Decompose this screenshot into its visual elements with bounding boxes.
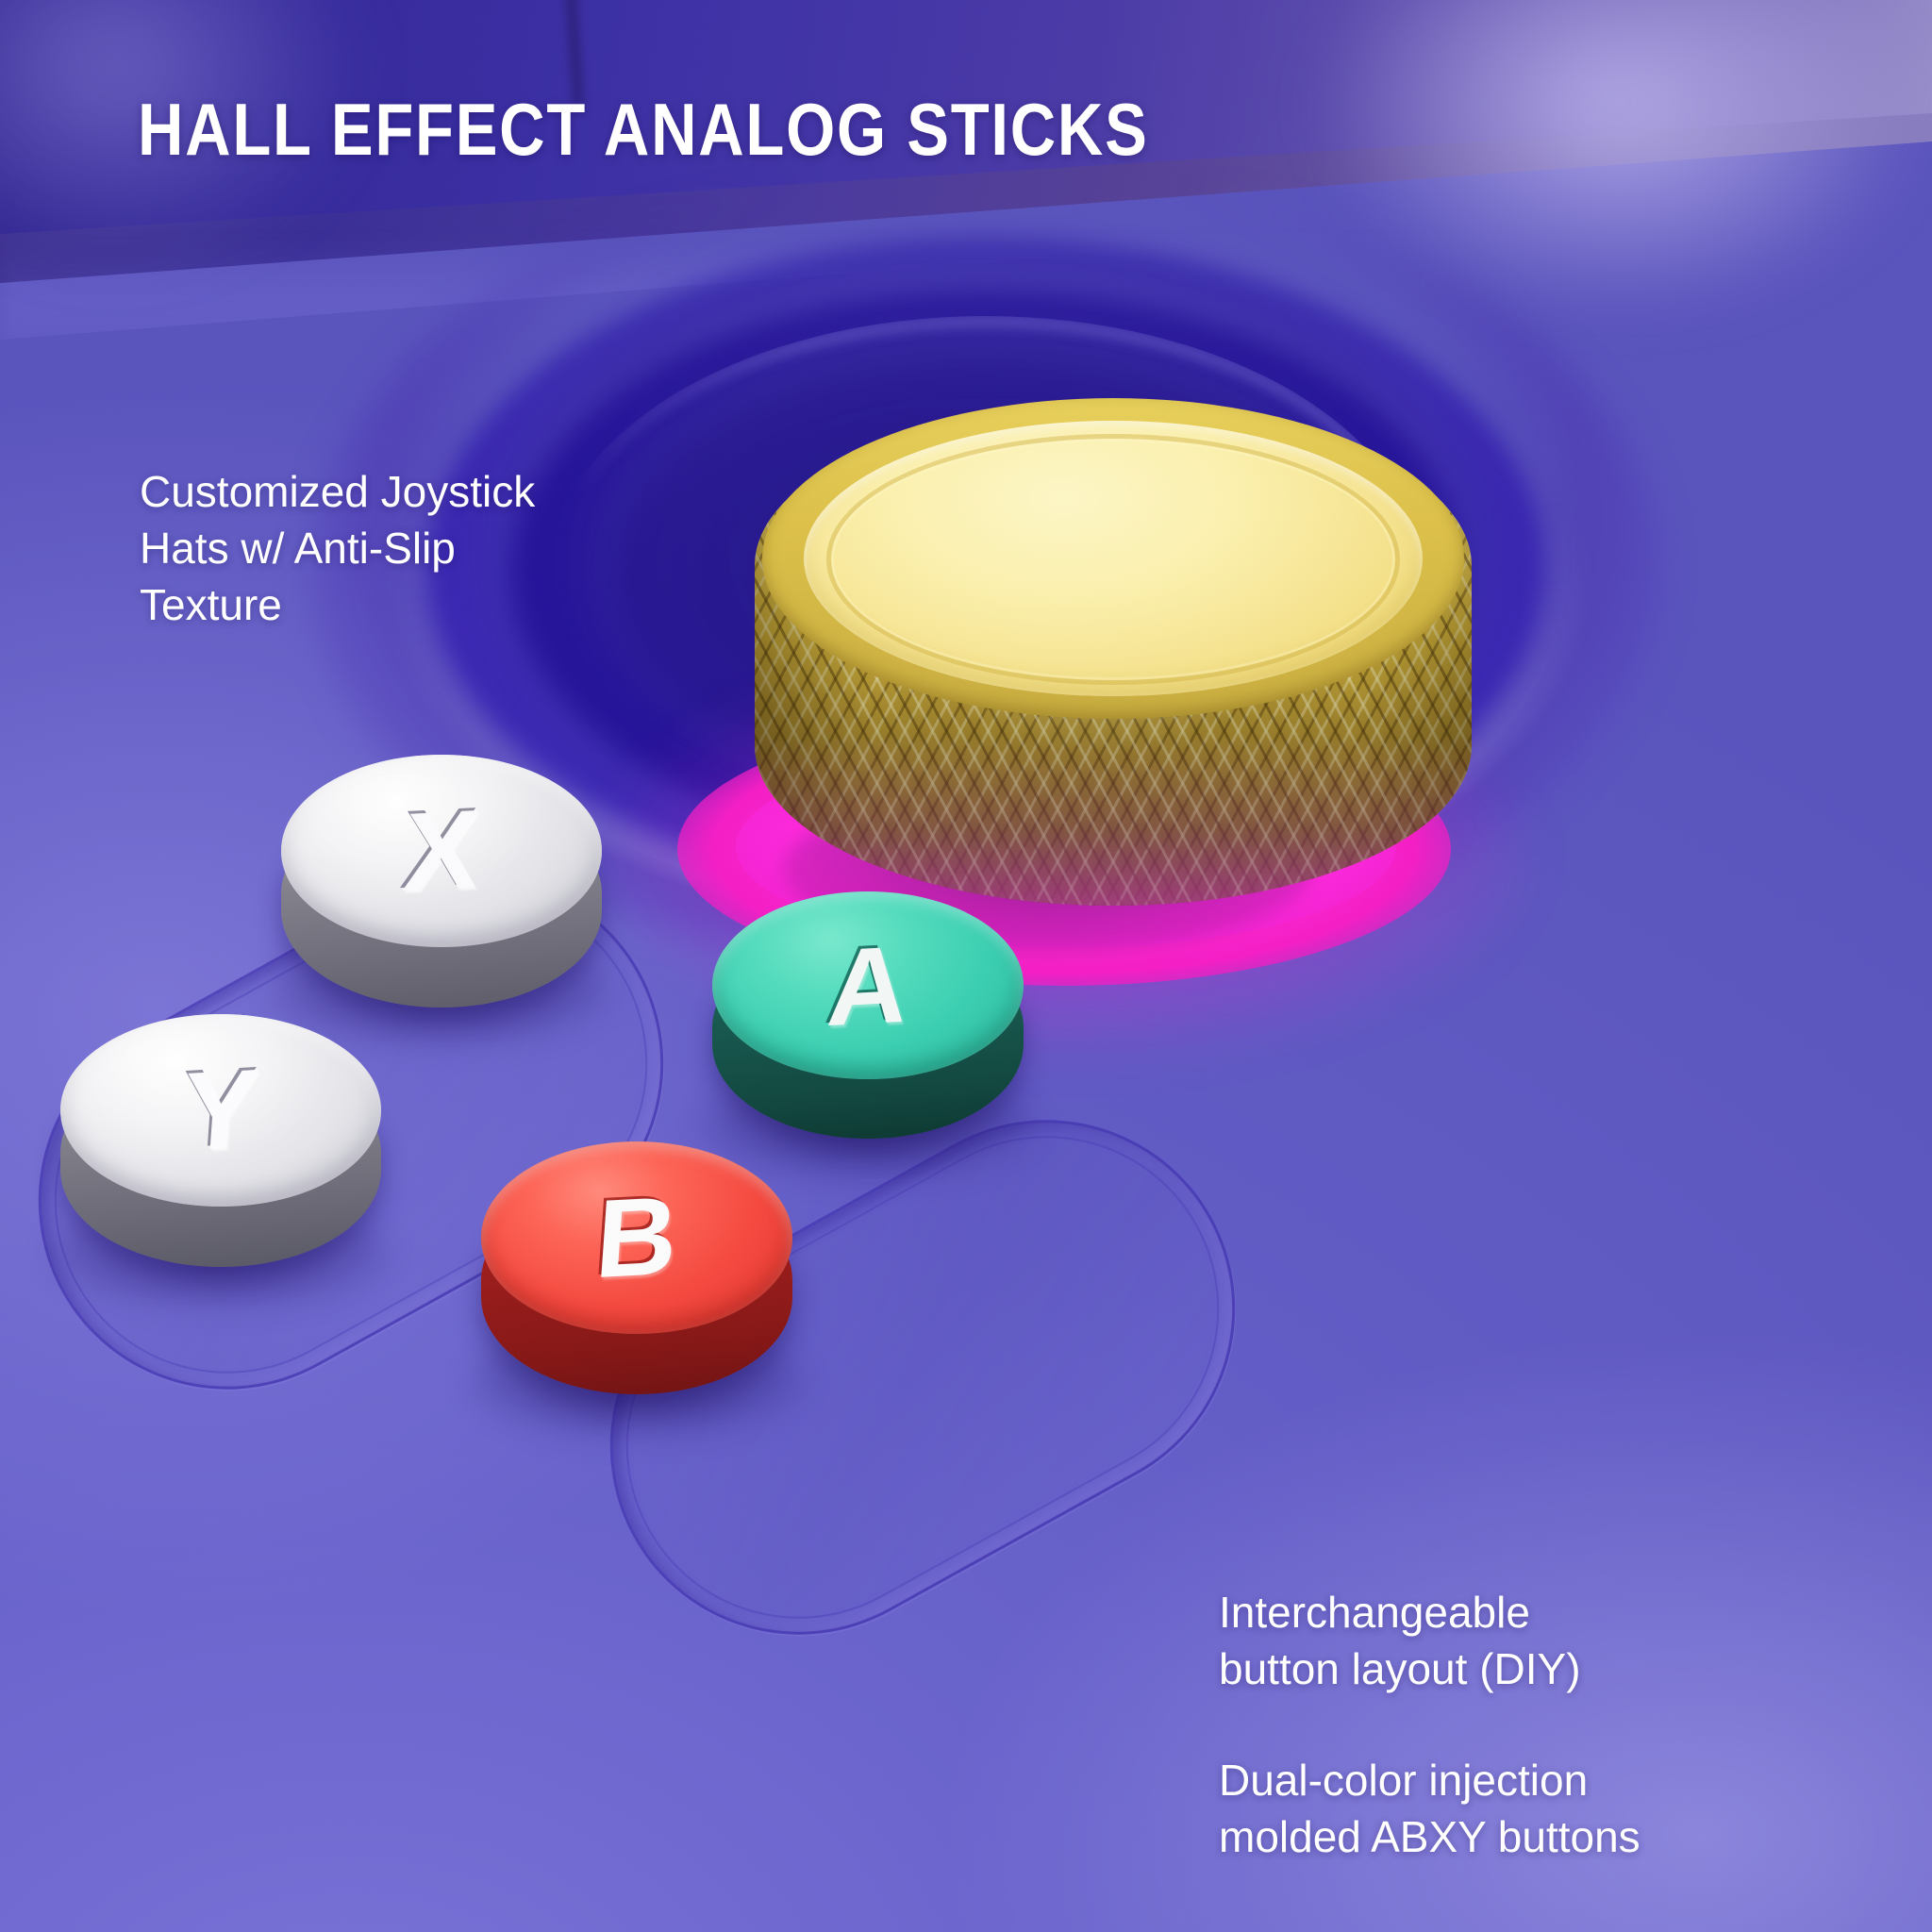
joystick-hat[interactable]	[755, 406, 1472, 934]
button-a[interactable]: A	[712, 891, 1024, 1139]
joystick-top-groove	[826, 434, 1400, 685]
feature-title: HALL EFFECT ANALOG STICKS	[138, 87, 1149, 173]
a-button-cap: A	[712, 891, 1024, 1079]
callout-molded-buttons: Dual-color injection molded ABXY buttons	[1219, 1753, 1641, 1866]
x-button-glyph: X	[281, 755, 602, 947]
a-button-glyph: A	[712, 891, 1024, 1079]
callout-joystick-hat: Customized Joystick Hats w/ Anti-Slip Te…	[140, 464, 535, 633]
b-button-cap: B	[481, 1141, 792, 1334]
button-b[interactable]: B	[481, 1141, 792, 1394]
button-x[interactable]: X	[281, 755, 602, 1008]
product-feature-graphic: X Y A B HALL EFFECT ANALOG STICKS Custom…	[0, 0, 1932, 1932]
x-button-cap: X	[281, 755, 602, 947]
joystick-magenta-bounce-light	[755, 736, 1472, 906]
callout-button-layout: Interchangeable button layout (DIY)	[1219, 1585, 1581, 1698]
b-button-glyph: B	[481, 1141, 792, 1334]
y-button-glyph: Y	[60, 1014, 381, 1207]
y-button-cap: Y	[60, 1014, 381, 1207]
button-y[interactable]: Y	[60, 1014, 381, 1267]
